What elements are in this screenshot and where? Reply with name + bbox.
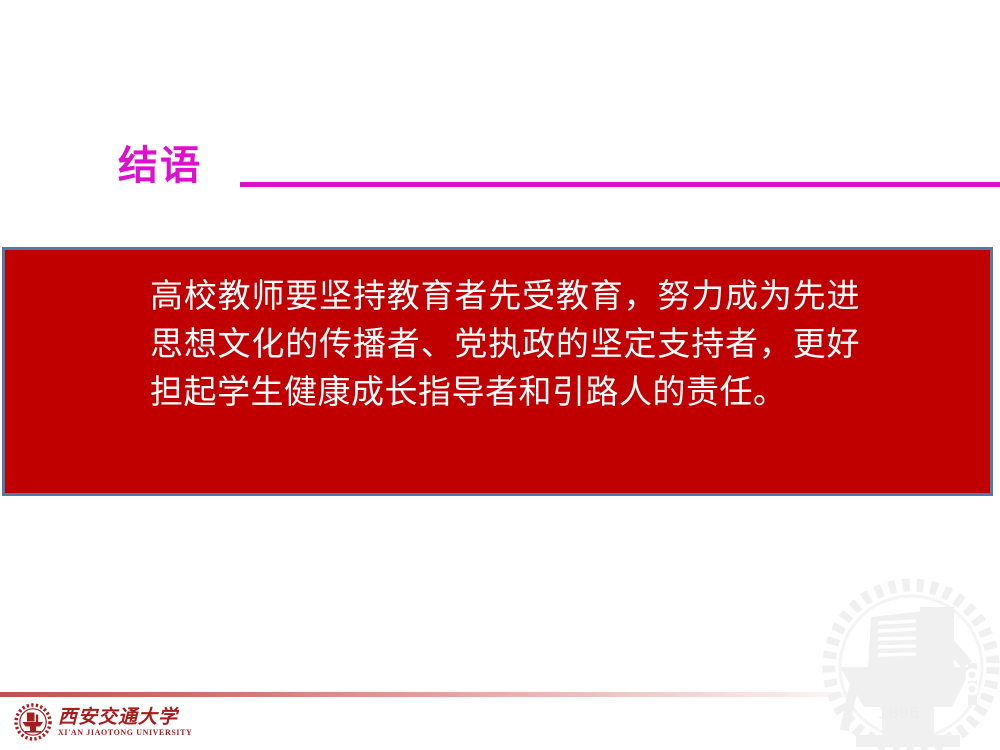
footer-divider	[0, 692, 1000, 697]
quote-text: 高校教师要坚持教育者先受教育，努力成为先进思想文化的传播者、党执政的坚定支持者，…	[150, 272, 860, 416]
logo-english-name: XI'AN JIAOTONG UNIVERSITY	[58, 728, 192, 738]
gear-emblem-icon	[14, 703, 52, 741]
logo-wordmark: 西安交通大学 XI'AN JIAOTONG UNIVERSITY	[58, 706, 192, 738]
watermark-year: 1896	[878, 703, 920, 723]
title-underline-rule	[240, 182, 1000, 187]
quote-banner: 高校教师要坚持教育者先受教育，努力成为先进思想文化的传播者、党执政的坚定支持者，…	[2, 247, 993, 496]
page-title: 结语	[118, 142, 202, 190]
slide-canvas: 结语 高校教师要坚持教育者先受教育，努力成为先进思想文化的传播者、党执政的坚定支…	[0, 0, 1000, 750]
title-area: 结语	[0, 70, 1000, 130]
logo-chinese-name: 西安交通大学	[58, 706, 192, 728]
watermark-emblem-icon: 1896	[816, 575, 1000, 750]
university-logo: 西安交通大学 XI'AN JIAOTONG UNIVERSITY	[14, 700, 194, 744]
